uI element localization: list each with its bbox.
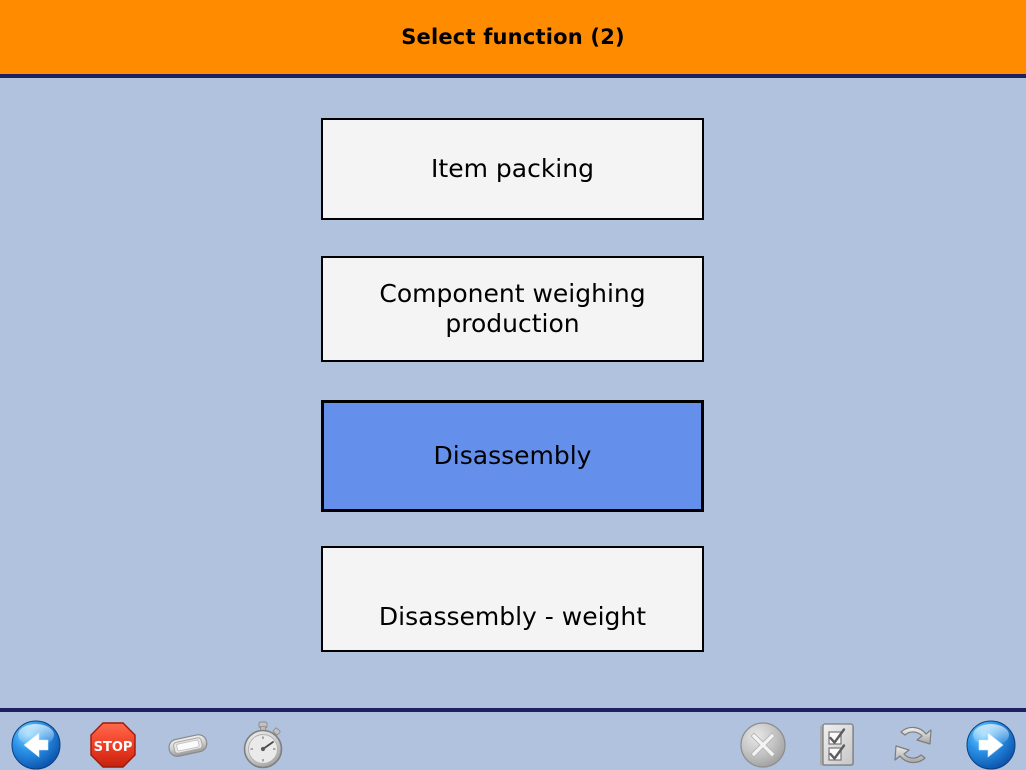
function-button-component-weighing-production[interactable]: Component weighing production bbox=[321, 256, 704, 362]
header-bar: Select function (2) bbox=[0, 0, 1026, 78]
function-button-item-packing[interactable]: Item packing bbox=[321, 118, 704, 220]
checklist-icon[interactable] bbox=[813, 720, 863, 770]
function-button-label: Disassembly - weight bbox=[369, 602, 656, 633]
stopwatch-icon[interactable] bbox=[238, 720, 288, 770]
forward-arrow-icon[interactable] bbox=[966, 720, 1016, 770]
scale-platform-icon[interactable] bbox=[163, 720, 213, 770]
page-title: Select function (2) bbox=[401, 25, 625, 49]
function-button-disassembly[interactable]: Disassembly bbox=[321, 400, 704, 512]
back-arrow-icon[interactable] bbox=[11, 720, 61, 770]
cancel-x-icon[interactable] bbox=[738, 720, 788, 770]
function-button-label: Disassembly bbox=[424, 441, 602, 472]
stop-label: STOP bbox=[94, 740, 133, 755]
function-list: Item packing Component weighing producti… bbox=[0, 82, 1026, 708]
function-button-disassembly-weight[interactable]: Disassembly - weight bbox=[321, 546, 704, 652]
function-button-label: Component weighing production bbox=[323, 279, 702, 340]
refresh-icon[interactable] bbox=[888, 720, 938, 770]
function-button-label: Item packing bbox=[421, 154, 604, 185]
stop-icon[interactable]: STOP bbox=[88, 720, 138, 770]
bottom-toolbar: STOP bbox=[0, 708, 1026, 770]
